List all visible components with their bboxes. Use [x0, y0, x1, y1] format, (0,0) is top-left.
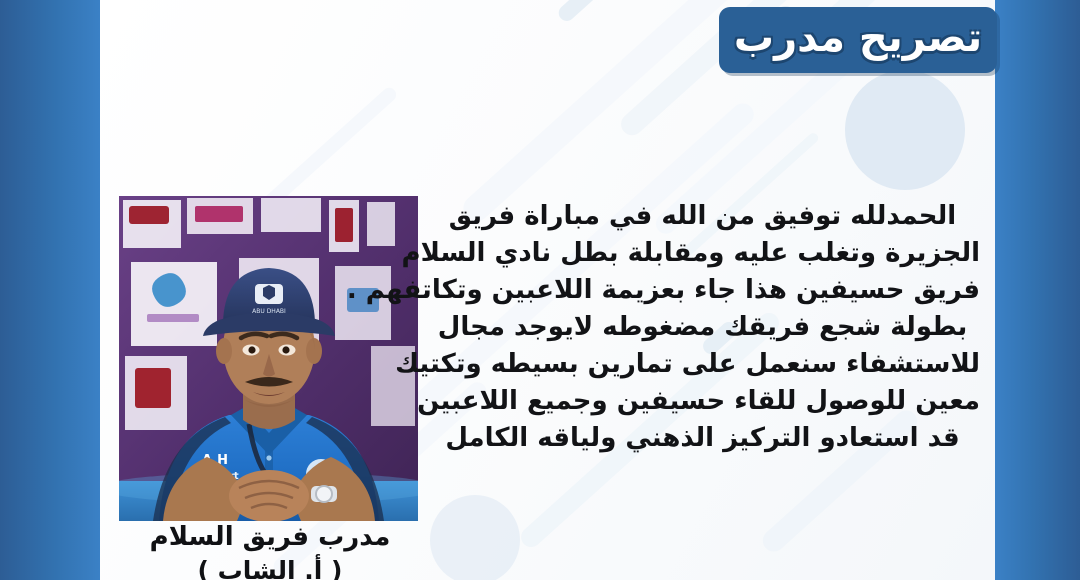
- svg-text:ABU DHABI: ABU DHABI: [252, 308, 286, 315]
- title-banner: تصريح مدرب: [719, 7, 997, 73]
- coach-photo: A.H uhlsport ABU DHABI: [119, 196, 418, 521]
- decor-blob: [845, 70, 965, 190]
- poster-canvas: تصريح مدرب: [0, 0, 1080, 580]
- statement-line: الجزيرة وتغلب عليه ومقابلة بطل نادي السل…: [425, 235, 980, 272]
- statement-text-block: الحمدلله توفيق من الله في مباراة فريق ال…: [425, 198, 980, 457]
- caption-line-2: ( أ. الشاب ): [105, 554, 435, 580]
- statement-line: معين للوصول للقاء حسيفين وجميع اللاعبين: [425, 383, 980, 420]
- statement-line: بطولة شجع فريقك مضغوطه لايوجد مجال: [425, 309, 980, 346]
- frame-border-right: [995, 0, 1080, 580]
- statement-line: فريق حسيفين هذا جاء بعزيمة اللاعبين وتكا…: [425, 272, 980, 309]
- photo-caption: مدرب فريق السلام ( أ. الشاب ): [105, 521, 435, 580]
- statement-line: قد استعادو التركيز الذهني ولياقه الكامل: [425, 420, 980, 457]
- frame-border-left: [0, 0, 100, 580]
- statement-line: الحمدلله توفيق من الله في مباراة فريق: [425, 198, 980, 235]
- statement-line: للاستشفاء سنعمل على تمارين بسيطه وتكتيك: [425, 346, 980, 383]
- caption-line-1: مدرب فريق السلام: [105, 521, 435, 554]
- page-title: تصريح مدرب: [734, 18, 982, 62]
- decor-blob: [430, 495, 520, 580]
- coach-photo-illustration: A.H uhlsport ABU DHABI: [119, 196, 418, 521]
